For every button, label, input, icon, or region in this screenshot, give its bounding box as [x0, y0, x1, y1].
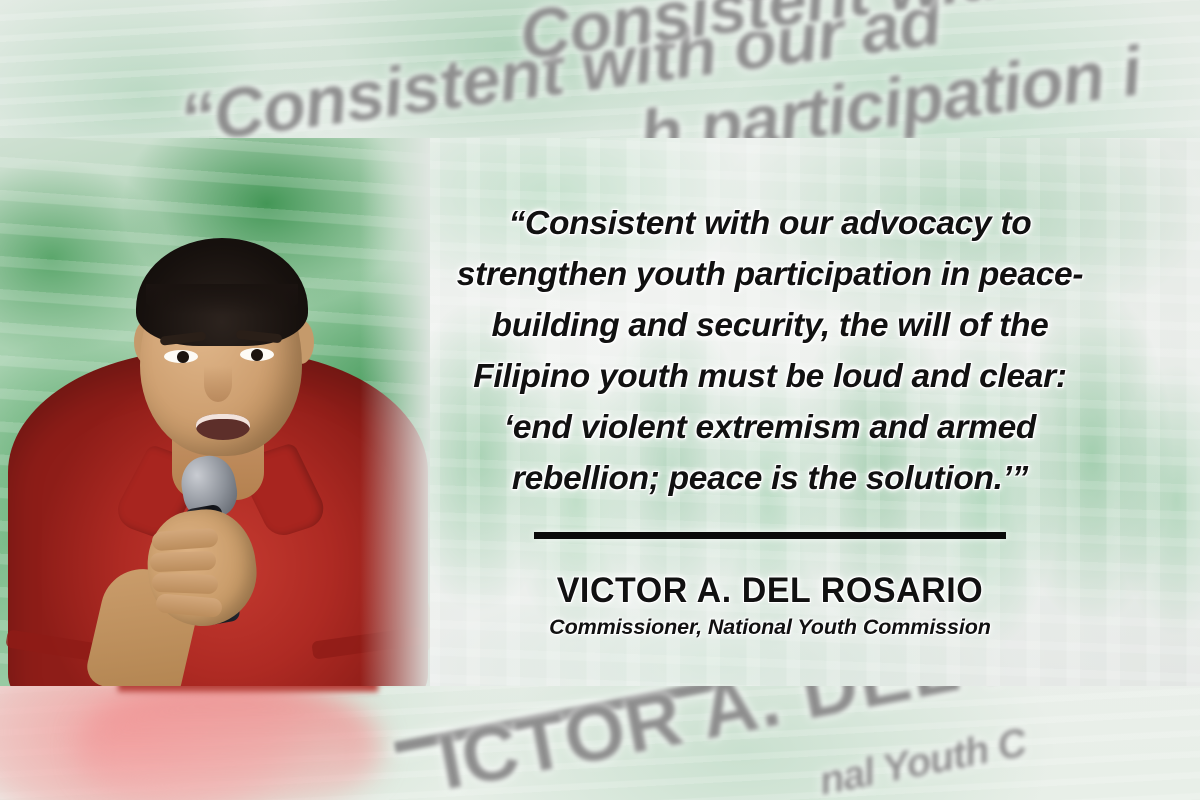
- quote-block: “Consistent with our advocacy to strengt…: [400, 198, 1140, 640]
- backdrop-shirt-blur-2: [80, 678, 380, 800]
- finger-3: [152, 573, 219, 594]
- nose: [204, 366, 232, 402]
- eye-left: [164, 350, 198, 363]
- finger-2: [150, 551, 217, 572]
- pupil-right: [251, 349, 263, 361]
- attribution-divider: [534, 532, 1006, 539]
- speaker-photo: [0, 138, 430, 686]
- attribution-name: VICTOR A. DEL ROSARIO: [411, 571, 1129, 611]
- eye-right: [240, 348, 274, 361]
- pull-quote-text: “Consistent with our advocacy to strengt…: [400, 198, 1140, 504]
- attribution-role: Commissioner, National Youth Commission: [400, 615, 1140, 640]
- quote-card: “Consistent with our ad Consistent with …: [0, 0, 1200, 800]
- pupil-left: [177, 351, 189, 363]
- mouth: [196, 414, 250, 440]
- quote-panel: “Consistent with our advocacy to strengt…: [0, 138, 1200, 686]
